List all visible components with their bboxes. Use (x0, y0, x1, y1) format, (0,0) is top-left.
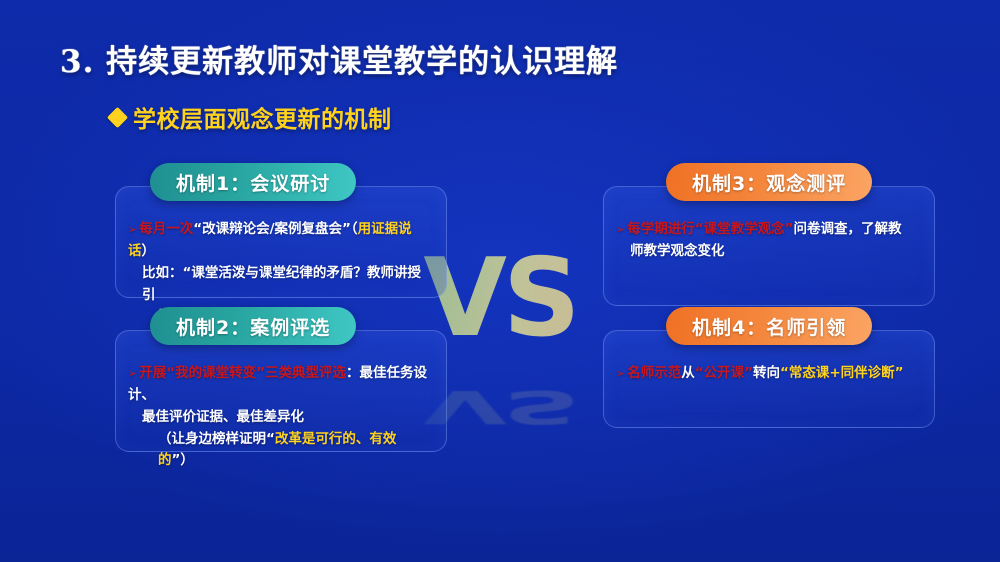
red-emphasis: 每月一次 (139, 221, 193, 237)
body-line: 师教学观念变化 (616, 241, 920, 263)
body-line: （让身边榜样证明“改革是可行的、有效的”） (128, 429, 432, 473)
red-emphasis: 名师示范 (627, 365, 681, 381)
body-line: 比如：“课堂活泼与课堂纪律的矛盾？教师讲授引 (128, 263, 432, 307)
body-text: 问卷调查，了解教 (793, 221, 901, 237)
diamond-bullet-icon (107, 106, 128, 127)
card-mechanism-4[interactable]: 机制4：名师引领 ➢名师示范从“公开课”转向“常态课+同伴诊断” (603, 330, 935, 428)
body-line: 最佳评价证据、最佳差异化 (128, 407, 432, 429)
card-mechanism-2[interactable]: 机制2：案例评选 ➢开展“我的课堂转变”三类典型评选：最佳任务设计、 最佳评价证… (115, 330, 447, 452)
page-title: 3. 持续更新教师对课堂教学的认识理解 (60, 36, 618, 81)
body-line: ➢每学期进行“课堂教学观念”问卷调查，了解教 (616, 219, 920, 241)
subtitle-text: 学校层面观念更新的机制 (133, 100, 392, 134)
badge-mechanism-4: 机制4：名师引领 (666, 307, 872, 345)
arrow-bullet-icon: ➢ (128, 223, 137, 236)
yellow-emphasis: “常态课+同伴诊断” (780, 365, 904, 381)
slide-canvas: 3. 持续更新教师对课堂教学的认识理解 学校层面观念更新的机制 VS VS 机制… (0, 0, 1000, 562)
body-text: 从 (681, 365, 695, 381)
body-text: ”） (172, 452, 194, 468)
body-text: “改课辩论会/案例复盘会”（ (193, 221, 357, 237)
arrow-bullet-icon: ➢ (616, 367, 625, 380)
body-text: 转向 (753, 365, 780, 381)
arrow-bullet-icon: ➢ (616, 223, 625, 236)
red-emphasis: 开展“我的课堂转变”三类典型评选 (139, 365, 346, 381)
body-text: （让身边榜样证明“ (158, 431, 275, 447)
body-line: ➢开展“我的课堂转变”三类典型评选：最佳任务设计、 (128, 363, 432, 407)
card-mechanism-3[interactable]: 机制3：观念测评 ➢每学期进行“课堂教学观念”问卷调查，了解教 师教学观念变化 (603, 186, 935, 306)
badge-mechanism-3: 机制3：观念测评 (666, 163, 872, 201)
card-mechanism-1[interactable]: 机制1：会议研讨 ➢每月一次“改课辩论会/案例复盘会”（用证据说话） 比如：“课… (115, 186, 447, 298)
red-emphasis: 每学期进行“课堂教学观念” (627, 221, 793, 237)
body-line: ➢名师示范从“公开课”转向“常态课+同伴诊断” (616, 363, 920, 385)
arrow-bullet-icon: ➢ (128, 367, 137, 380)
red-emphasis: “公开课” (695, 365, 753, 381)
card-body-mechanism-2: ➢开展“我的课堂转变”三类典型评选：最佳任务设计、 最佳评价证据、最佳差异化 （… (116, 331, 446, 480)
badge-mechanism-2: 机制2：案例评选 (150, 307, 356, 345)
body-text: ） (142, 243, 156, 259)
subtitle-row: 学校层面观念更新的机制 (110, 100, 392, 134)
badge-mechanism-1: 机制1：会议研讨 (150, 163, 356, 201)
body-line: ➢每月一次“改课辩论会/案例复盘会”（用证据说话） (128, 219, 432, 263)
